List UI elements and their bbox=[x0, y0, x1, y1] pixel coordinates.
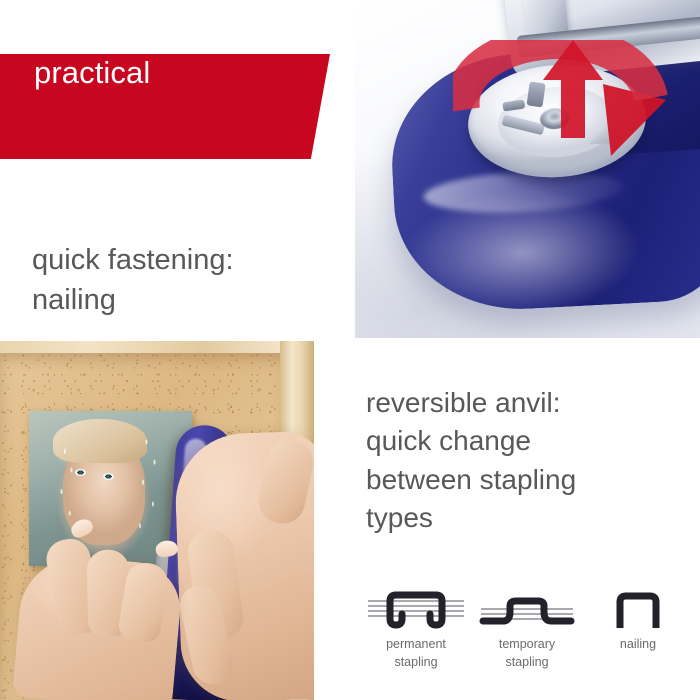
permanent-stapling-icon bbox=[366, 586, 466, 632]
staple-type-legend: permanent stapling temporary stapling bbox=[362, 586, 692, 678]
nailing-icon bbox=[588, 586, 688, 632]
staple-type-temporary-label: temporary stapling bbox=[499, 636, 555, 672]
staple-type-permanent-label: permanent stapling bbox=[386, 636, 446, 672]
headline-text: Versatile and practical bbox=[34, 7, 304, 95]
cork-board-photo bbox=[0, 341, 314, 700]
stapler-closeup-photo bbox=[355, 0, 700, 338]
right-hand bbox=[173, 430, 314, 700]
product-feature-panel: Versatile and practical quick fastening:… bbox=[0, 0, 700, 700]
left-hand bbox=[12, 552, 184, 700]
staple-type-temporary: temporary stapling bbox=[473, 586, 581, 672]
staple-type-permanent: permanent stapling bbox=[362, 586, 470, 672]
right-hand-thumb bbox=[255, 436, 314, 528]
temporary-stapling-icon bbox=[477, 586, 577, 632]
caption-reversible-anvil: reversible anvil: quick change between s… bbox=[366, 384, 686, 537]
staple-type-nailing-label: nailing bbox=[620, 636, 656, 654]
up-arrow-icon bbox=[541, 38, 605, 138]
staple-type-nailing: nailing bbox=[584, 586, 692, 654]
caption-quick-fastening: quick fastening: nailing bbox=[32, 240, 332, 320]
